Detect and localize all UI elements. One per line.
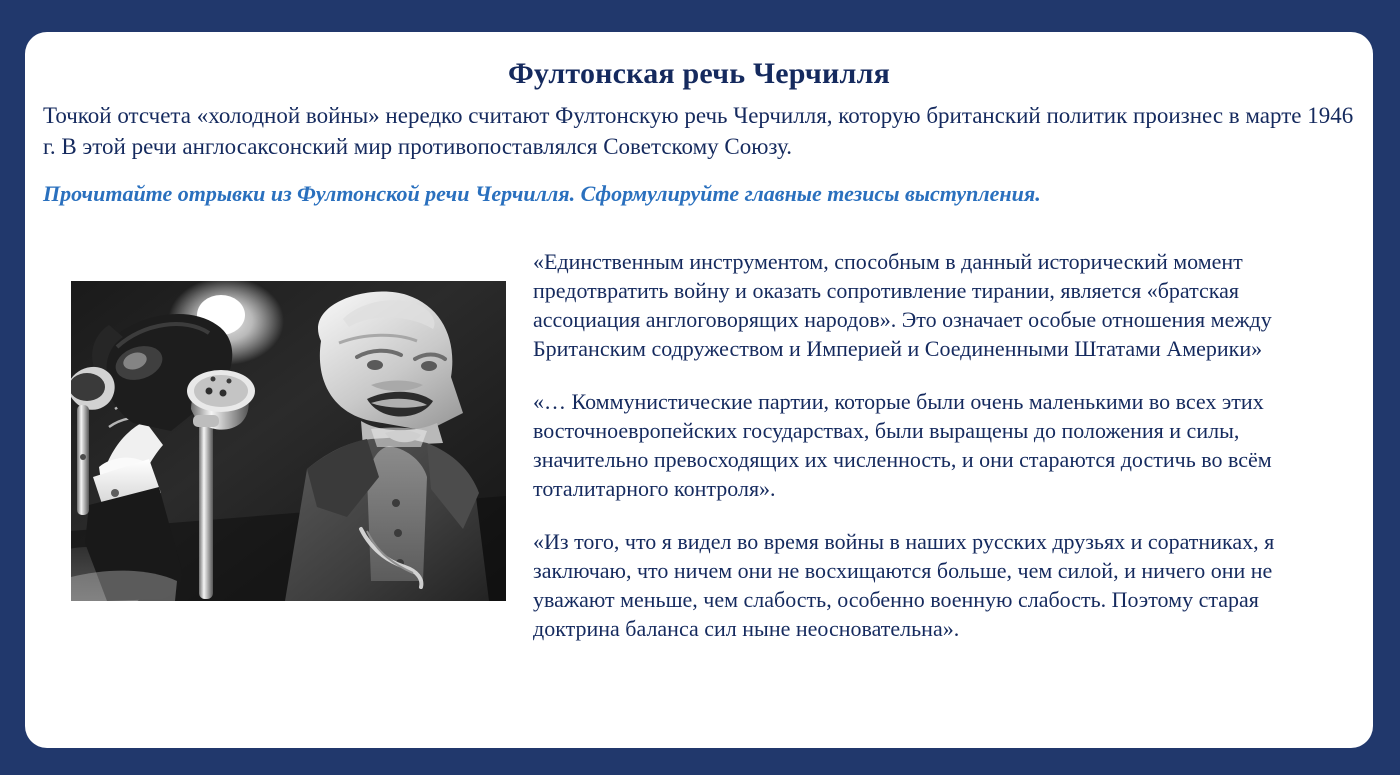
slide-root: Фултонская речь Черчилля Точкой отсчета … bbox=[0, 0, 1400, 775]
quote-2: «… Коммунистические партии, которые были… bbox=[533, 387, 1345, 503]
page-title: Фултонская речь Черчилля bbox=[25, 57, 1373, 91]
task-instruction: Прочитайте отрывки из Фултонской речи Че… bbox=[43, 180, 1363, 208]
content-row: «Единственным инструментом, способным в … bbox=[25, 247, 1373, 707]
intro-paragraph: Точкой отсчета «холодной войны» нередко … bbox=[43, 100, 1363, 162]
churchill-photo bbox=[71, 281, 506, 601]
quote-1: «Единственным инструментом, способным в … bbox=[533, 247, 1345, 363]
photo-image bbox=[71, 281, 506, 601]
quote-3: «Из того, что я видел во время войны в н… bbox=[533, 527, 1345, 643]
content-card: Фултонская речь Черчилля Точкой отсчета … bbox=[25, 32, 1373, 748]
quotes-column: «Единственным инструментом, способным в … bbox=[533, 247, 1345, 643]
